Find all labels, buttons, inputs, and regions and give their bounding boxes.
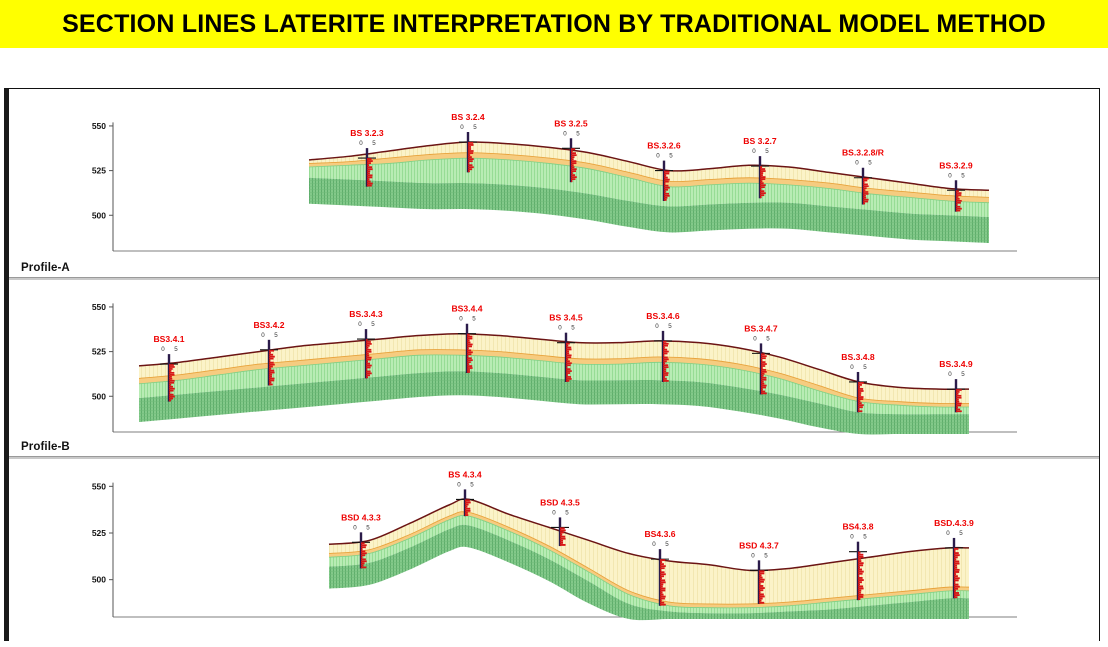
borehole-log-segment [366,365,372,367]
borehole-log-segment [956,192,961,194]
borehole-log-segment [571,178,575,180]
borehole-log-segment [761,389,763,391]
borehole-log-segment [467,367,473,369]
borehole-log-segment [663,376,665,378]
borehole-log-segment [663,368,666,370]
borehole-log-segment [956,389,962,391]
borehole-label: BS 4.3.4 [448,469,482,479]
borehole-log-segment [366,341,371,343]
borehole-log-segment [367,160,373,162]
borehole-log-segment [664,195,670,197]
borehole-log-segment [760,182,764,184]
borehole-log-segment [954,548,958,550]
borehole-log-segment [663,341,666,343]
borehole-log-segment [954,571,959,573]
borehole-log-segment [571,168,577,170]
borehole-log-segment [366,343,372,345]
borehole-log-segment [468,164,472,166]
borehole-log-segment [465,499,470,501]
borehole-label: BS.3.4.9 [939,359,973,369]
borehole-log-segment [954,586,960,588]
borehole-log-segment [760,176,766,178]
borehole-log-segment [761,383,764,385]
borehole-log-segment [169,398,173,400]
borehole-log-segment [571,154,577,156]
borehole-log-segment [956,401,959,403]
borehole-log-segment [169,386,173,388]
borehole-log-segment [663,351,669,353]
borehole-log-segment [367,172,370,174]
borehole-log-segment [169,394,174,396]
borehole-log-segment [954,552,959,554]
borehole-log-segment [759,598,763,600]
borehole-log-segment [761,387,766,389]
borehole-log-segment [169,366,175,368]
borehole-log-segment [956,202,961,204]
borehole-log-segment [169,392,170,394]
y-tick-label: 525 [92,166,106,176]
borehole-log-segment [858,558,861,560]
borehole-log-segment [660,586,663,588]
borehole-log-segment [467,361,471,363]
borehole-log-segment [169,368,173,370]
borehole-log-segment [858,590,861,592]
borehole-log-segment [664,191,666,193]
borehole-log-segment [956,403,962,405]
borehole-scale-left: 0 [655,323,659,330]
borehole-log-segment [269,362,274,364]
borehole-log-segment [361,566,366,568]
borehole-log-segment [660,565,666,567]
borehole-log-segment [858,402,862,404]
title-banner: SECTION LINES LATERITE INTERPRETATION BY… [0,0,1108,48]
borehole-log-segment [566,360,570,362]
borehole-log-segment [467,369,470,371]
borehole-log-segment [566,349,572,351]
y-tick-label: 550 [92,121,106,131]
borehole-log-segment [366,373,372,375]
borehole-scale-left: 0 [752,148,756,155]
borehole-log-segment [467,357,472,359]
borehole-log-segment [954,590,956,592]
borehole-log-segment [468,170,470,172]
borehole-log-segment [468,162,469,164]
borehole-log-segment [169,364,174,366]
borehole-log-segment [560,540,563,542]
borehole-label: BSD 4.3.7 [739,540,779,550]
borehole-scale-right: 5 [961,172,965,179]
borehole-scale-left: 0 [460,124,464,131]
borehole-log-segment [956,198,960,200]
panel-profile-c: 550525500BSD 4.3.305BS 4.3.405BSD 4.3.50… [9,459,1099,641]
borehole-log-segment [954,582,955,584]
borehole-log-segment [956,397,961,399]
borehole-log-segment [759,589,763,591]
borehole-scale-right: 5 [372,140,376,147]
borehole-label: BSD 4.3.3 [341,512,381,522]
borehole-log-segment [467,365,472,367]
borehole-log-segment [467,363,469,365]
borehole-log-segment [269,376,272,378]
borehole-log-segment [663,362,665,364]
borehole-log-segment [169,370,171,372]
borehole-log-segment [863,178,869,180]
borehole-log-segment [560,527,565,529]
borehole-log-segment [759,585,763,587]
borehole-scale-right: 5 [764,552,768,559]
borehole-log-segment [954,569,960,571]
geology-bands [309,142,989,243]
borehole-log-segment [467,340,470,342]
borehole-log-segment [660,604,666,606]
borehole-log-segment [761,361,765,363]
borehole-log-segment [169,372,174,374]
borehole-log-segment [760,172,763,174]
borehole-scale-right: 5 [863,534,867,541]
borehole-log-segment [660,571,665,573]
borehole-log-segment [660,573,666,575]
borehole-log-segment [954,563,960,565]
borehole-log-segment [366,353,369,355]
borehole-log-segment [663,380,669,382]
borehole-log-segment [663,360,667,362]
y-tick-label: 525 [92,528,106,538]
borehole-log-segment [759,572,764,574]
borehole-log-segment [269,368,271,370]
borehole-log-segment [366,347,368,349]
borehole-scale-right: 5 [961,371,965,378]
borehole-log-segment [664,199,667,201]
borehole-log-segment [465,504,469,506]
borehole-log-segment [858,592,861,594]
borehole-scale-right: 5 [766,335,770,342]
borehole-log-segment [664,183,665,185]
borehole-log-segment [956,196,958,198]
borehole-log-segment [566,368,571,370]
borehole-scale-right: 5 [174,346,178,353]
borehole-log-segment [664,181,669,183]
borehole-log-segment [571,162,576,164]
borehole-log-segment [560,538,566,540]
borehole-label: BS 3.4.5 [549,313,583,323]
borehole-log-segment [660,577,662,579]
borehole-label: BS 3.2.3 [350,128,384,138]
borehole-log-segment [858,388,863,390]
profile-a-label: Profile-A [21,262,70,274]
borehole-log-segment [660,575,664,577]
borehole-log-segment [660,579,665,581]
borehole-log-segment [956,200,962,202]
borehole-label: BS.3.4.7 [744,323,778,333]
borehole-log-segment [858,392,861,394]
borehole-log-segment [660,602,664,604]
borehole-log-segment [660,563,664,565]
borehole-log-segment [169,400,171,402]
borehole-log-segment [760,166,762,168]
borehole-log-segment [858,406,863,408]
borehole-log-segment [954,584,959,586]
borehole-scale-left: 0 [457,481,461,488]
borehole-log-segment [467,349,471,351]
borehole-log-segment [956,391,960,393]
borehole-log-segment [663,355,664,357]
borehole-scale-left: 0 [563,130,567,137]
borehole-log-segment [361,554,365,556]
borehole-log-segment [571,164,574,166]
borehole-log-segment [169,378,172,380]
borehole-log-segment [863,185,869,187]
borehole-log-segment [863,189,865,191]
borehole-log-segment [858,579,864,581]
borehole-log-segment [664,175,666,177]
borehole-scale-left: 0 [459,316,463,323]
borehole-log-segment [759,575,761,577]
borehole-scale-left: 0 [656,153,660,160]
borehole-log-segment [566,366,567,368]
borehole-log-segment [467,334,470,336]
borehole-log-segment [664,171,670,173]
borehole-log-segment [467,355,468,357]
borehole-log-segment [468,160,473,162]
borehole-log-segment [169,384,171,386]
borehole-log-segment [366,349,371,351]
borehole-log-segment [660,567,665,569]
borehole-log-segment [954,594,960,596]
borehole-log-segment [956,210,960,212]
borehole-log-segment [760,192,766,194]
borehole-log-segment [571,176,577,178]
borehole-log-segment [954,554,960,556]
borehole-log-segment [366,376,368,378]
borehole-label: BS4.3.8 [842,522,873,532]
borehole-scale-right: 5 [868,160,872,167]
borehole-log-segment [664,179,670,181]
borehole-log-segment [560,529,566,531]
panel-profile-b: 550525500BS3.4.105BS3.4.205BS.3.4.305BS3… [9,280,1099,456]
borehole-log-segment [858,566,860,568]
borehole-log-segment [760,194,764,196]
borehole-log-segment [760,180,762,182]
borehole-log-segment [858,398,863,400]
borehole-scale-left: 0 [855,160,859,167]
borehole-log-segment [366,371,371,373]
borehole-log-segment [760,178,765,180]
borehole-log-segment [468,158,474,160]
borehole-scale-left: 0 [948,371,952,378]
borehole-log-segment [366,361,368,363]
borehole-log-segment [366,355,369,357]
borehole-log-segment [566,343,570,345]
borehole-log-segment [467,336,472,338]
borehole-log-segment [863,193,869,195]
borehole-log-segment [465,510,470,512]
borehole-scale-left: 0 [261,332,265,339]
borehole-log-segment [566,378,572,380]
borehole-log-segment [663,343,669,345]
borehole-log-segment [663,370,666,372]
profile-a-chart: 550525500BS 3.2.305BS 3.2.405BS 3.2.505B… [9,89,1099,277]
borehole-log-segment [566,351,569,353]
borehole-log-segment [660,596,666,598]
borehole-log-segment [664,189,668,191]
borehole-log-segment [571,180,572,182]
borehole-log-segment [761,375,764,377]
borehole-log-segment [269,378,275,380]
borehole-log-segment [761,371,767,373]
borehole-log-segment [465,502,471,504]
borehole-log-segment [956,206,960,208]
borehole-log-segment [366,351,371,353]
panel-profile-a: 550525500BS 3.2.305BS 3.2.405BS 3.2.505B… [9,89,1099,277]
borehole-scale-left: 0 [850,364,854,371]
borehole-log-segment [761,381,764,383]
borehole-log-segment [269,372,275,374]
borehole-log-segment [663,345,668,347]
borehole-log-segment [660,594,664,596]
borehole-log-segment [269,364,275,366]
borehole-log-segment [759,591,761,593]
borehole-log-segment [761,353,765,355]
borehole-log-segment [367,158,372,160]
borehole-log-segment [366,357,372,359]
borehole-scale-left: 0 [358,321,362,328]
borehole-scale-right: 5 [765,148,769,155]
borehole-log-segment [367,162,371,164]
borehole-log-segment [366,339,368,341]
borehole-log-segment [468,152,473,154]
borehole-log-segment [954,565,957,567]
borehole-log-segment [863,201,868,203]
borehole-log-segment [367,170,370,172]
borehole-log-segment [761,369,766,371]
borehole-label: BS.3.4.3 [349,309,383,319]
borehole-scale-right: 5 [274,332,278,339]
borehole-log-segment [660,590,665,592]
borehole-log-segment [858,588,864,590]
borehole-log-segment [858,577,863,579]
borehole-log-segment [954,556,958,558]
borehole-log-segment [956,408,960,410]
borehole-log-segment [560,542,563,544]
borehole-log-segment [571,150,573,152]
borehole-log-segment [863,203,865,205]
borehole-log-segment [954,573,956,575]
borehole-log-segment [663,378,667,380]
borehole-log-segment [761,359,762,361]
borehole-log-segment [566,380,569,382]
borehole-log-segment [858,560,861,562]
borehole-log-segment [571,170,576,172]
borehole-log-segment [760,174,763,176]
borehole-log-segment [956,395,961,397]
borehole-log-segment [367,176,372,178]
borehole-scale-right: 5 [470,481,474,488]
borehole-log-segment [863,197,866,199]
borehole-log-segment [761,393,767,395]
borehole-log-segment [571,152,576,154]
borehole-log-segment [269,350,274,352]
y-tick-label: 525 [92,347,106,357]
borehole-log-segment [956,399,959,401]
borehole-log-segment [366,374,370,376]
borehole-label: BSD 4.3.5 [540,497,580,507]
borehole-log-segment [566,354,572,356]
borehole-label: BS3.4.2 [253,320,284,330]
borehole-log-segment [560,536,565,538]
borehole-scale-right: 5 [669,153,673,160]
borehole-log-segment [468,148,471,150]
borehole-log-segment [366,359,371,361]
borehole-log-segment [956,407,958,409]
borehole-log-segment [366,363,370,365]
borehole-log-segment [361,560,367,562]
borehole-log-segment [467,371,470,373]
borehole-log-segment [361,564,363,566]
borehole-log-segment [858,562,864,564]
borehole-log-segment [863,182,865,184]
borehole-log-segment [956,410,962,412]
borehole-log-segment [858,408,860,410]
borehole-log-segment [660,600,662,602]
borehole-log-segment [761,365,765,367]
borehole-log-segment [361,562,365,564]
borehole-log-segment [560,544,566,546]
borehole-log-segment [858,575,859,577]
borehole-log-segment [761,385,767,387]
borehole-log-segment [467,359,473,361]
borehole-log-segment [467,351,473,353]
borehole-log-segment [954,592,959,594]
borehole-log-segment [760,184,766,186]
borehole-log-segment [566,362,572,364]
borehole-log-segment [361,544,367,546]
borehole-log-segment [956,204,958,206]
borehole-log-segment [863,199,869,201]
borehole-scale-right: 5 [959,530,963,537]
borehole-log-segment [566,370,572,372]
borehole-log-segment [361,550,365,552]
borehole-log-segment [571,174,575,176]
borehole-scale-left: 0 [359,140,363,147]
borehole-log-segment [468,142,473,144]
borehole-log-segment [759,577,763,579]
borehole-log-segment [468,156,472,158]
borehole-log-segment [571,160,576,162]
borehole-log-segment [467,353,471,355]
profile-c-chart: 550525500BSD 4.3.305BS 4.3.405BSD 4.3.50… [9,459,1099,641]
borehole-log-segment [467,338,472,340]
borehole-log-segment [954,558,956,560]
borehole-log-segment [858,594,864,596]
borehole-log-segment [366,367,371,369]
y-tick-label: 500 [92,210,106,220]
borehole-log-segment [956,405,961,407]
borehole-log-segment [664,187,670,189]
borehole-log-segment [361,542,365,544]
borehole-log-segment [465,514,468,516]
borehole-log-segment [956,194,961,196]
borehole-label: BS.3.2.6 [647,141,681,151]
borehole-log-segment [660,561,662,563]
borehole-log-segment [465,512,468,514]
borehole-log-segment [468,168,472,170]
borehole-log-segment [858,386,860,388]
borehole-log-segment [367,166,372,168]
borehole-log-segment [954,567,957,569]
borehole-label: BS.3.2.8/R [842,148,885,158]
borehole-log-segment [858,552,860,554]
borehole-scale-left: 0 [552,509,556,516]
